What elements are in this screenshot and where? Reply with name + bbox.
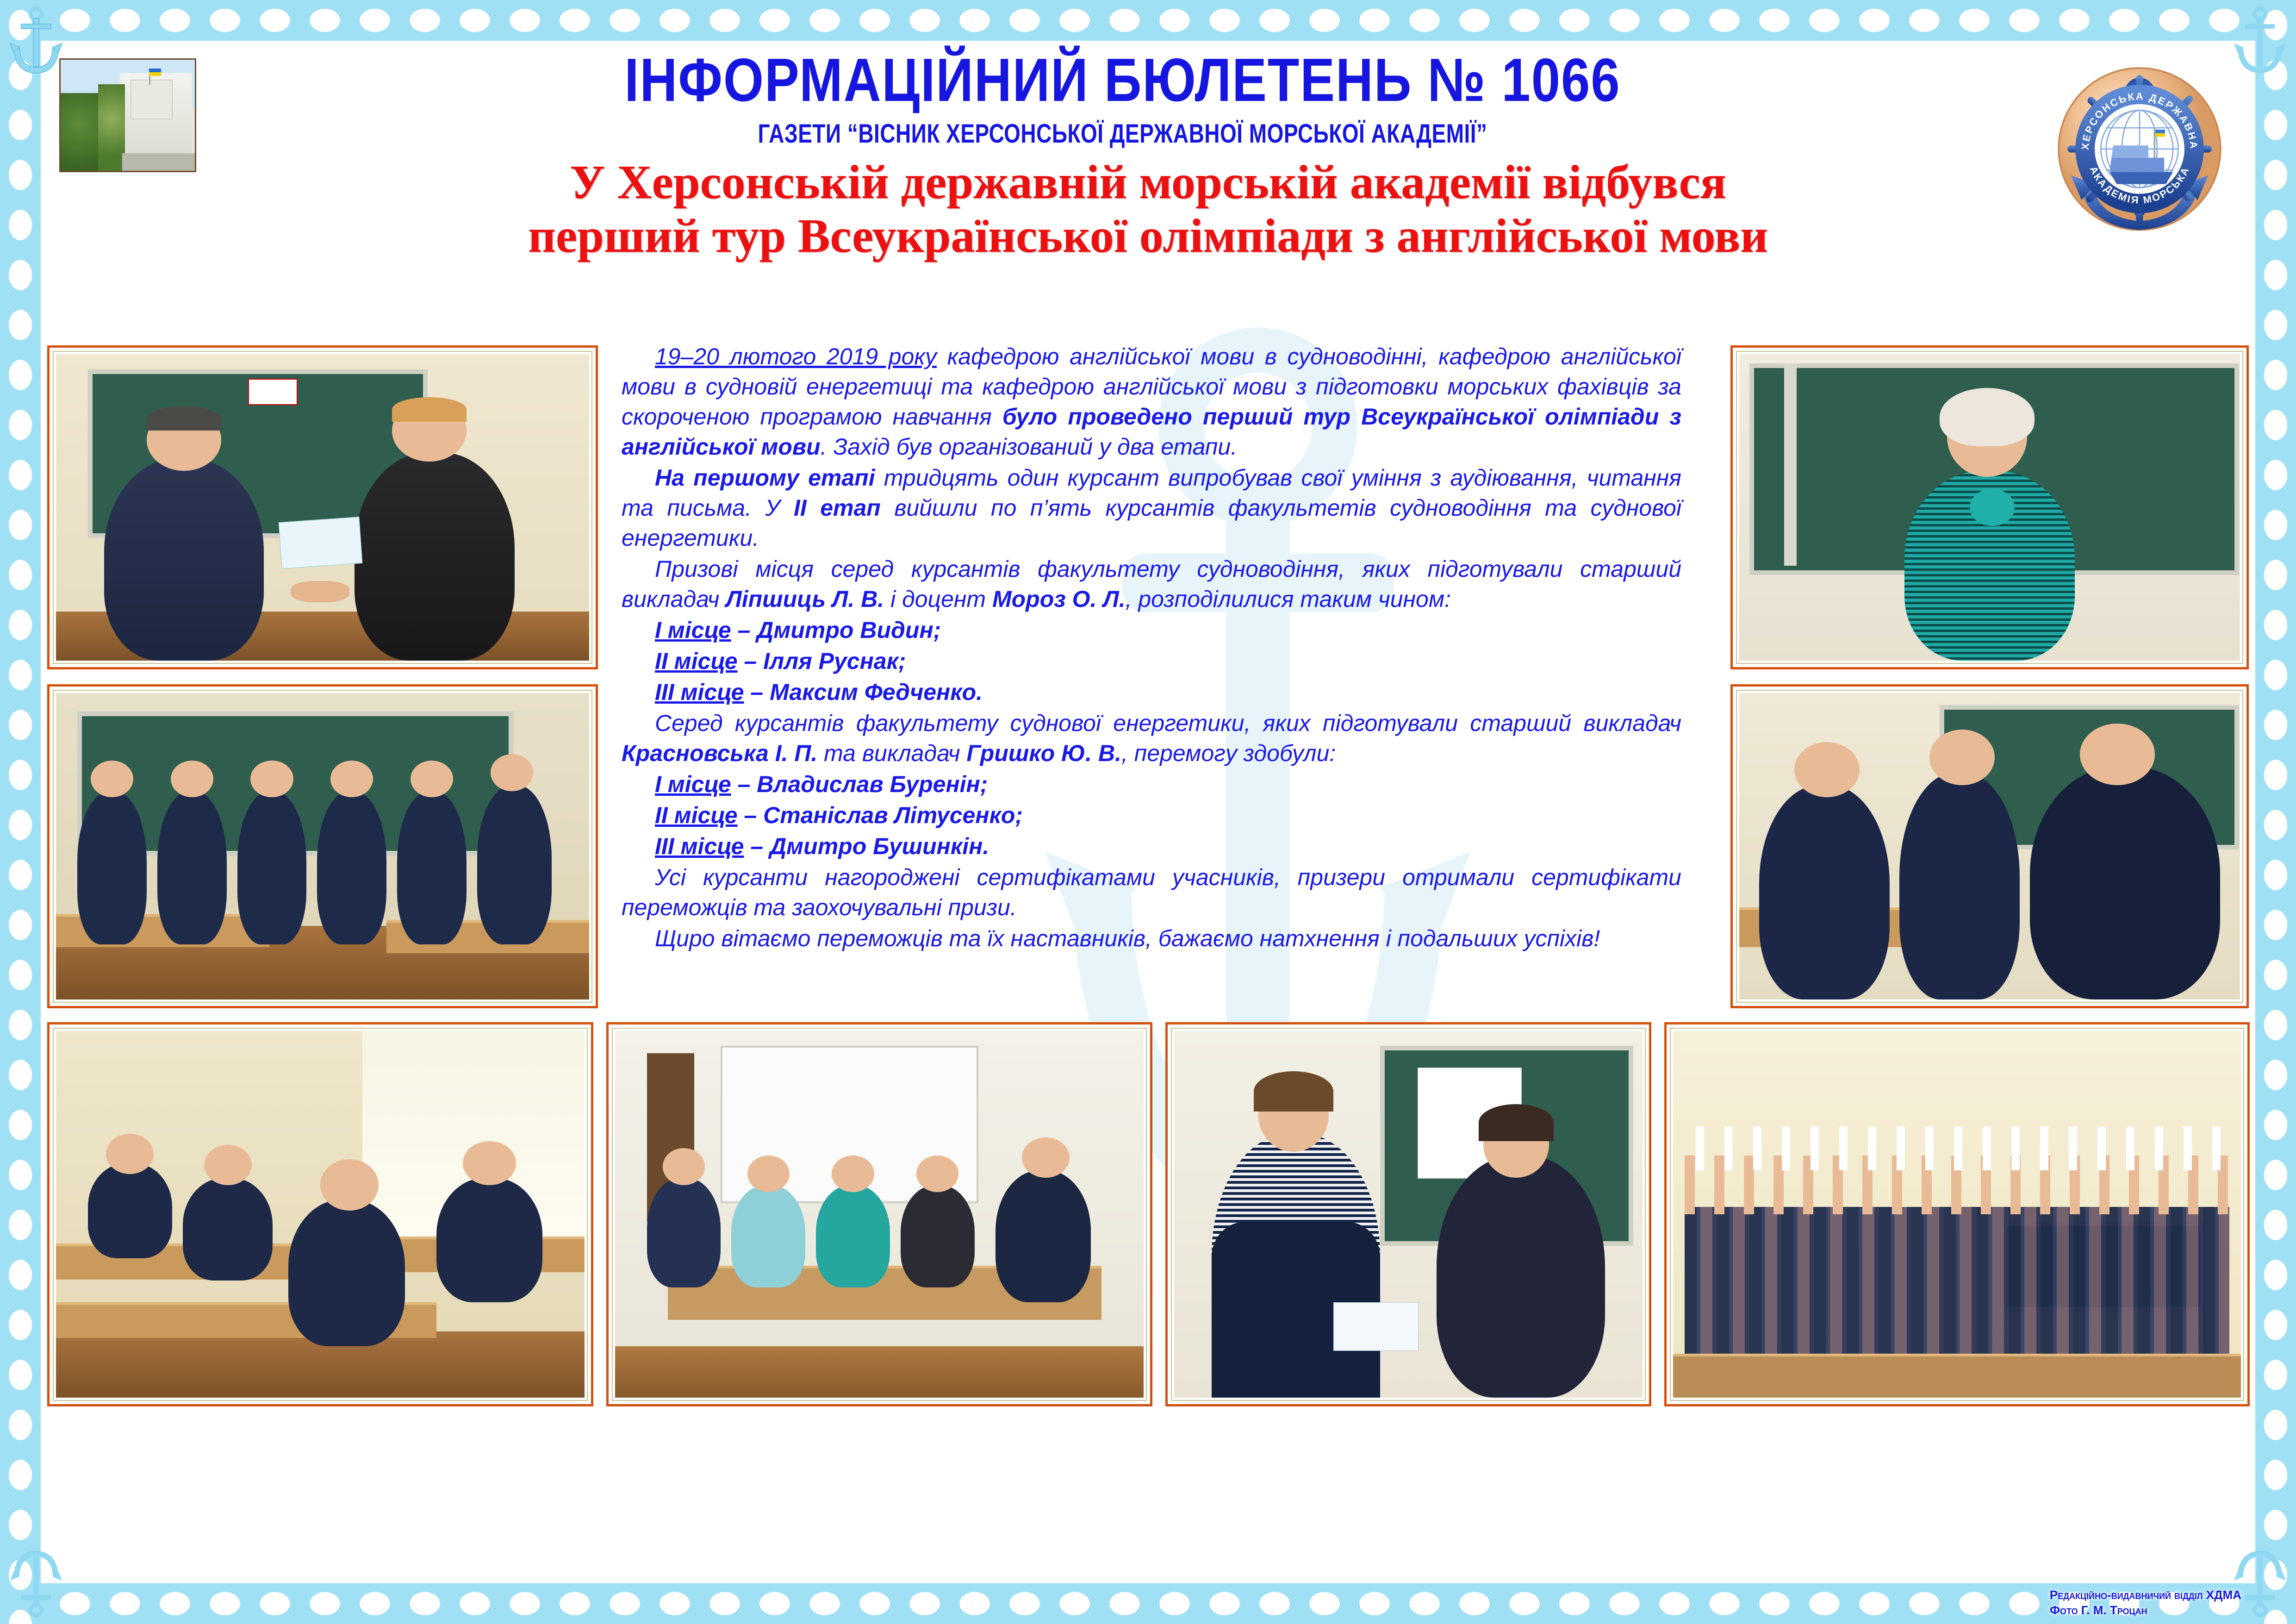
masthead-text: ІНФОРМАЦІЙНИЙ БЮЛЕТЕНЬ № 1066 ГАЗЕТИ “ВІ… bbox=[203, 49, 2042, 143]
anchor-icon bbox=[2232, 6, 2288, 76]
nav-place-1: І місце – Дмитро Видин; bbox=[622, 615, 1681, 645]
headline-line-1: У Херсонській державній морській академі… bbox=[110, 156, 2186, 209]
article-body: 19–20 лютого 2019 року кафедрою англійсь… bbox=[622, 342, 1681, 955]
page-headline: У Херсонській державній морській академі… bbox=[110, 156, 2186, 263]
photo-teacher-board bbox=[1730, 345, 2249, 669]
photo-exam-hall bbox=[47, 1022, 593, 1406]
chain-border-bottom bbox=[0, 1583, 2296, 1624]
bulletin-page: ХЕРСОНСЬКА ДЕРЖАВНА АКАДЕМІЯ МОРСЬКА ІНФ… bbox=[0, 0, 2296, 1624]
chain-border-left bbox=[0, 0, 41, 1624]
photo-cadets-talk bbox=[1730, 684, 2249, 1008]
article-date: 19–20 лютого 2019 року bbox=[655, 344, 937, 369]
nav-place-2: ІІ місце – Ілля Руснак; bbox=[622, 646, 1681, 676]
eng-place-2: ІІ місце – Станіслав Літусенко; bbox=[622, 800, 1681, 831]
article-paragraph-4: Серед курсантів факультету суднової енер… bbox=[622, 708, 1681, 768]
eng-place-3: ІІІ місце – Дмитро Бушинкін. bbox=[622, 831, 1681, 862]
anchor-icon bbox=[8, 1548, 64, 1618]
photo-award-handshake bbox=[47, 345, 598, 669]
body-area: 19–20 лютого 2019 року кафедрою англійсь… bbox=[41, 337, 2255, 1583]
nav-place-3: ІІІ місце – Максим Федченко. bbox=[622, 677, 1681, 707]
article-paragraph-6: Щиро вітаємо переможців та їх наставникі… bbox=[622, 924, 1681, 954]
headline-line-2: перший тур Всеукраїнської олімпіади з ан… bbox=[110, 209, 2186, 263]
photo-jury-table bbox=[606, 1022, 1152, 1406]
chain-border-top bbox=[0, 0, 2296, 41]
article-paragraph-5: Усі курсанти нагороджені сертифікатами у… bbox=[622, 862, 1681, 923]
article-paragraph-3: Призові місця серед курсантів факультету… bbox=[622, 554, 1681, 614]
chain-border-right bbox=[2255, 0, 2296, 1624]
bulletin-subtitle: ГАЗЕТИ “ВІСНИК ХЕРСОНСЬКОЇ ДЕРЖАВНОЇ МОР… bbox=[203, 118, 2042, 149]
article-paragraph-1: 19–20 лютого 2019 року кафедрою англійсь… bbox=[622, 342, 1681, 462]
photo-cadet-certificate bbox=[1165, 1022, 1651, 1406]
footer-credit-line-1: Редакційно-видавничий відділ ХДМА bbox=[2050, 1587, 2241, 1603]
bulletin-title: ІНФОРМАЦІЙНИЙ БЮЛЕТЕНЬ № 1066 bbox=[203, 49, 2042, 112]
footer-credit: Редакційно-видавничий відділ ХДМА Фото Г… bbox=[2050, 1587, 2241, 1618]
photo-group bbox=[1664, 1022, 2250, 1406]
footer-credit-line-2: Фото Г. М. Троцан bbox=[2050, 1603, 2241, 1618]
anchor-icon bbox=[8, 6, 64, 76]
article-paragraph-2: На першому етапі тридцять один курсант в… bbox=[622, 463, 1681, 553]
photo-cadets-line bbox=[47, 684, 598, 1008]
content-area: ХЕРСОНСЬКА ДЕРЖАВНА АКАДЕМІЯ МОРСЬКА ІНФ… bbox=[41, 41, 2255, 1583]
masthead-header: ХЕРСОНСЬКА ДЕРЖАВНА АКАДЕМІЯ МОРСЬКА ІНФ… bbox=[41, 41, 2255, 337]
eng-place-1: І місце – Владислав Буренін; bbox=[622, 769, 1681, 800]
